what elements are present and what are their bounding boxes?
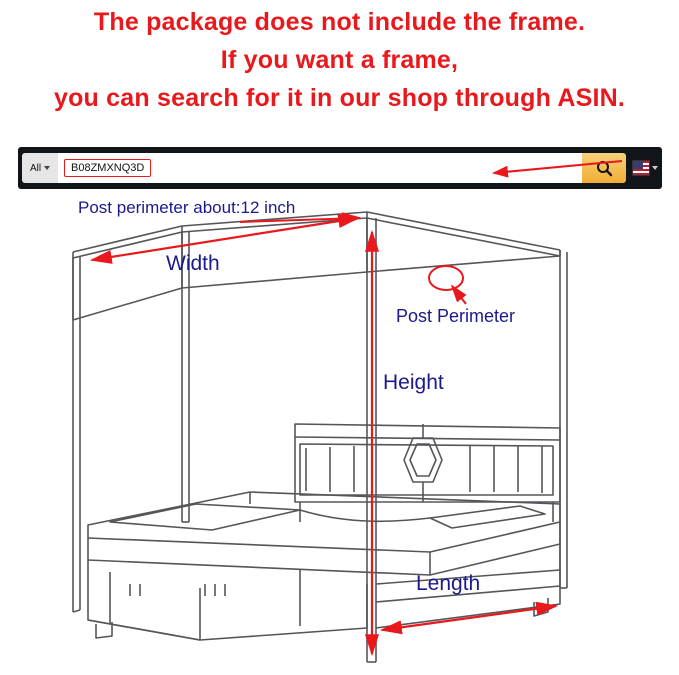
- search-keyword-highlight: B08ZMXNQ3D: [64, 159, 151, 177]
- locale-selector[interactable]: [632, 153, 658, 183]
- headline-line-1: The package does not include the frame.: [0, 6, 679, 38]
- search-icon: [596, 160, 613, 177]
- bed-frame-outline: [73, 212, 567, 662]
- label-width: Width: [166, 252, 220, 276]
- category-dropdown-label: All: [30, 163, 41, 174]
- us-flag-icon: [632, 160, 650, 176]
- bed-frame-drawing: [0, 192, 679, 675]
- label-post-perimeter: Post Perimeter: [396, 306, 515, 327]
- amazon-search-bar: All B08ZMXNQ3D: [18, 147, 662, 189]
- search-input[interactable]: B08ZMXNQ3D: [58, 153, 582, 183]
- bed-frame-diagram: [0, 192, 679, 675]
- headline-line-2: If you want a frame,: [0, 44, 679, 76]
- category-dropdown[interactable]: All: [22, 153, 58, 183]
- label-height: Height: [383, 371, 444, 395]
- label-length: Length: [416, 572, 480, 596]
- chevron-down-icon: [44, 166, 50, 170]
- label-post-perimeter-top: Post perimeter about:12 inch: [78, 198, 295, 218]
- search-button[interactable]: [582, 153, 626, 183]
- headline-line-3: you can search for it in our shop throug…: [0, 82, 679, 114]
- chevron-down-icon: [652, 166, 658, 170]
- dimension-arrows: [92, 218, 556, 654]
